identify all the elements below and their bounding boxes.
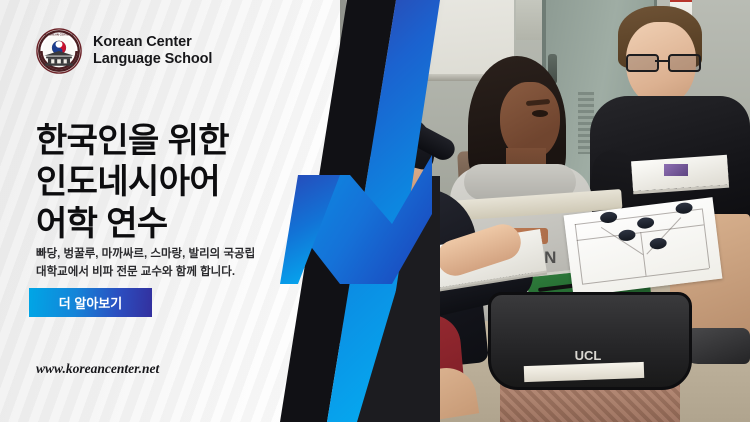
learn-more-button[interactable]: 더 알아보기 (29, 288, 152, 317)
photo-chair-label: UCL (558, 348, 618, 363)
classroom-photo: BISON (340, 0, 750, 422)
content-column: ★ KOREAN CENTER ★ (0, 0, 340, 422)
glasses-icon (624, 54, 700, 68)
brand-lockup[interactable]: ★ KOREAN CENTER ★ (36, 28, 212, 74)
page-title: 한국인을 위한 인도네시아어 어학 연수 (36, 121, 316, 245)
photo-student-center-eye (532, 110, 548, 117)
subheadline-text: 빠당, 벙꿀루, 마까싸르, 스마랑, 발리의 국공립 대학교에서 비파 전문 … (36, 245, 286, 282)
photo-student-right-paper-image (664, 164, 688, 176)
photo-wall-panel (516, 0, 542, 40)
website-url[interactable]: www.koreancenter.net (36, 361, 159, 377)
svg-text:★ KOREAN CENTER ★: ★ KOREAN CENTER ★ (44, 32, 75, 36)
promo-banner: BISON (0, 0, 750, 422)
korean-center-seal-icon: ★ KOREAN CENTER ★ (36, 28, 82, 74)
photo-whiteboard (346, 0, 514, 77)
brand-name: Korean Center Language School (93, 34, 212, 68)
